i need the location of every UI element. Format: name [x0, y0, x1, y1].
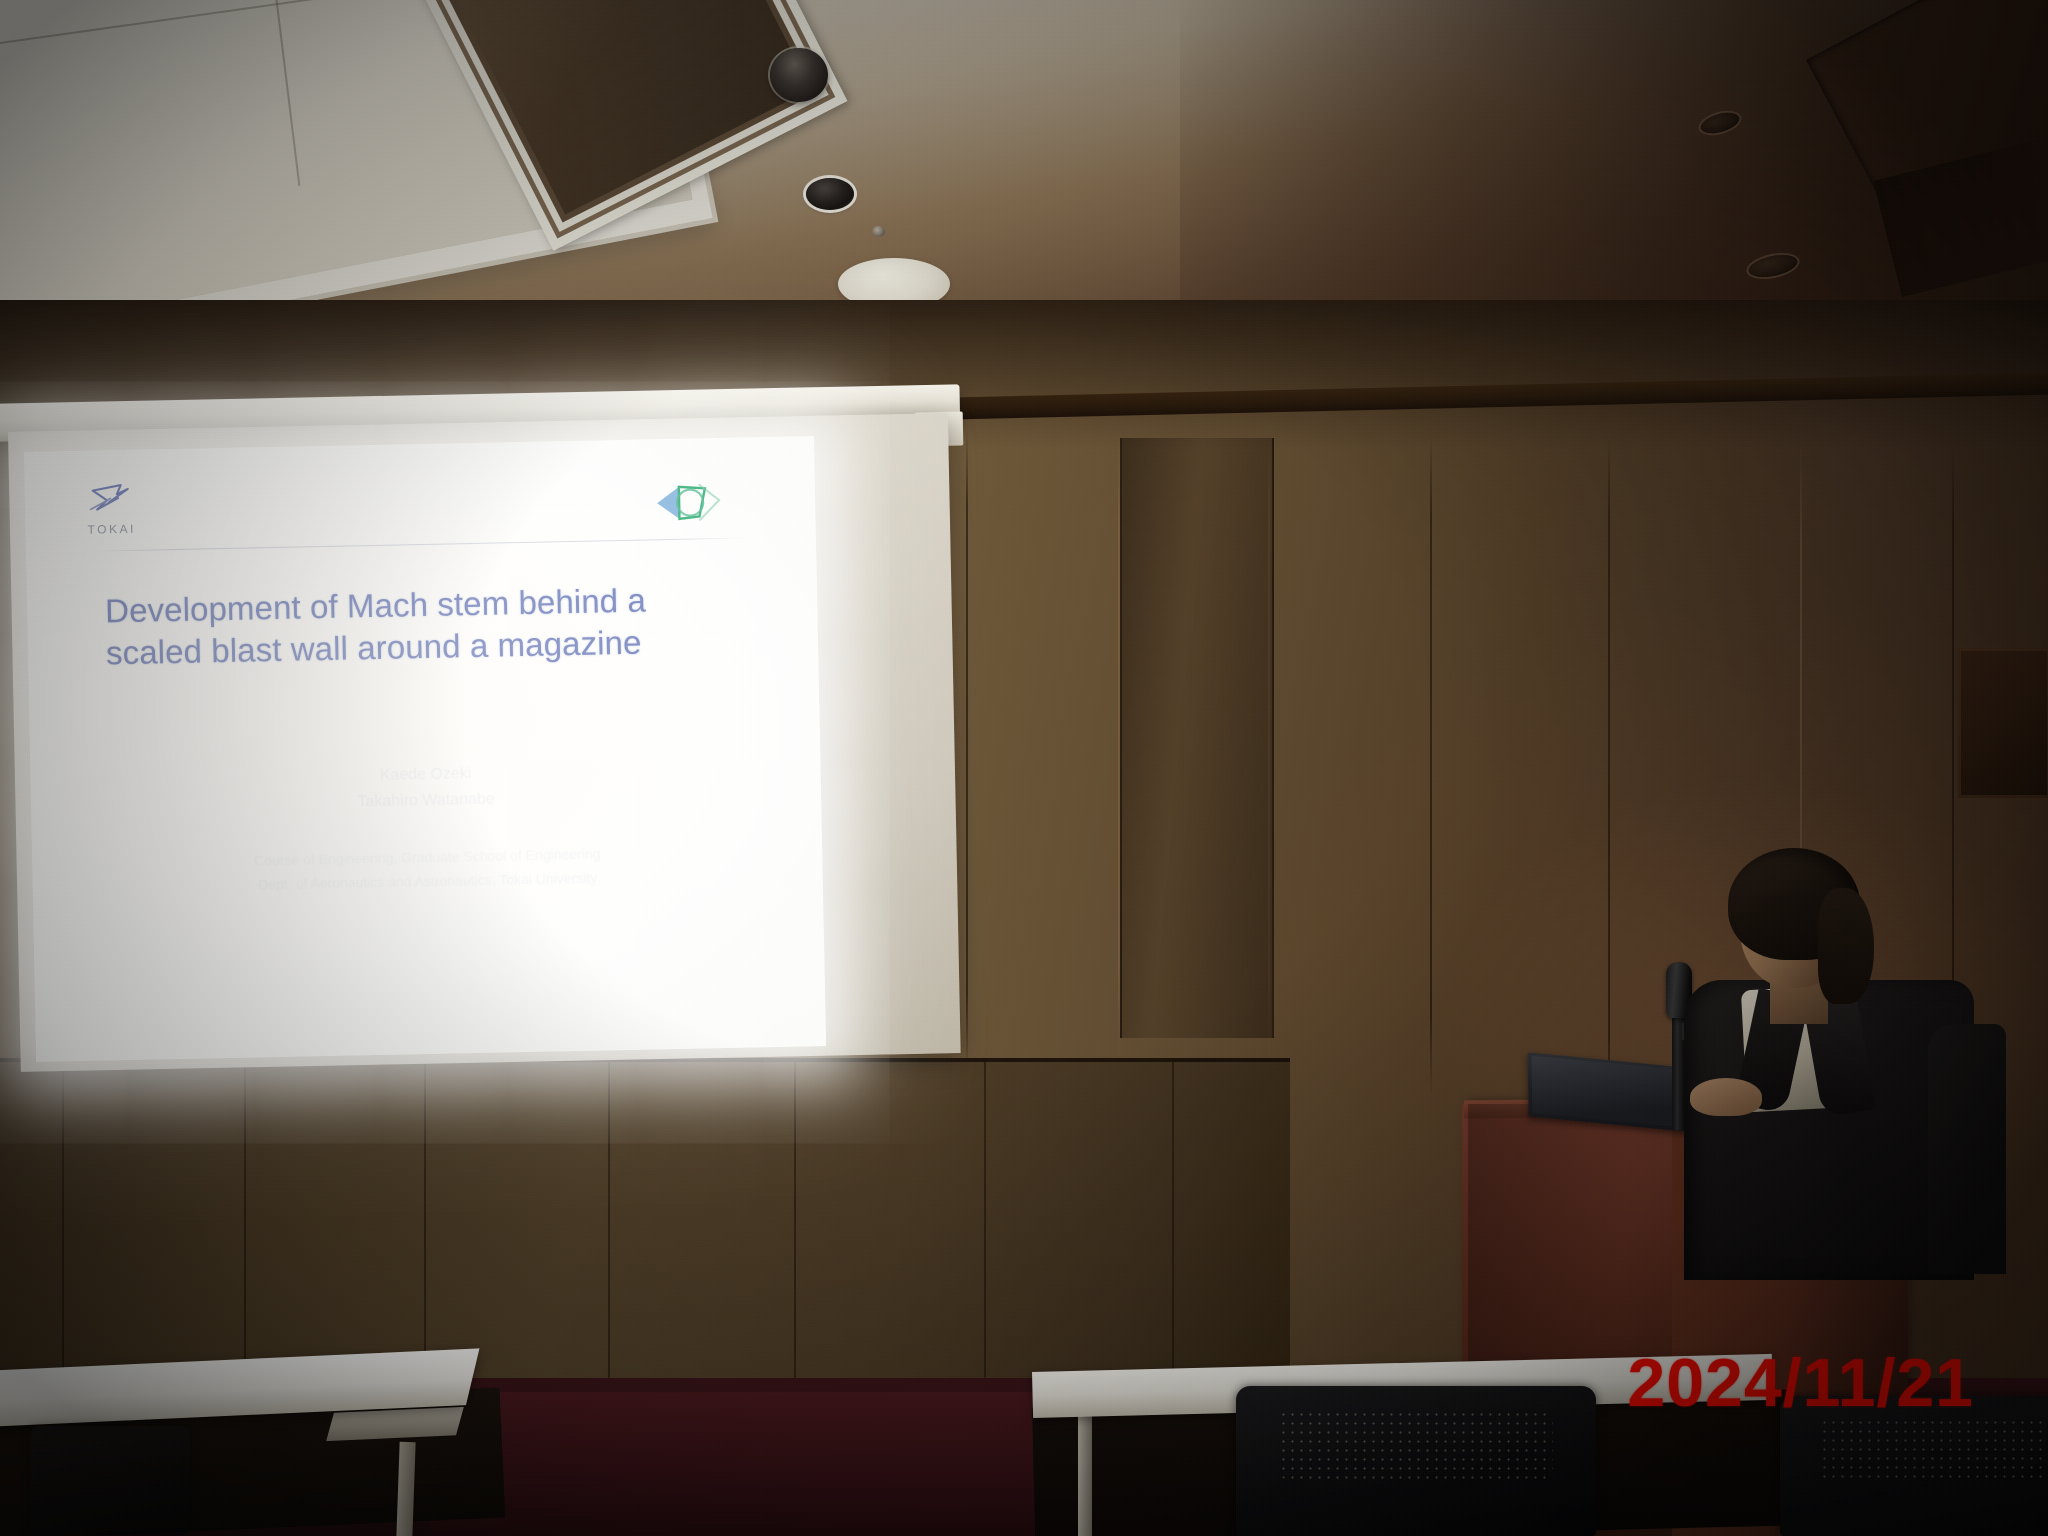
wall-panel-seam	[966, 430, 968, 1070]
dado-seam	[794, 1062, 796, 1386]
projection-screen: TOKAI Development of Mach stem behind a …	[24, 436, 826, 1062]
wall-panel-seam	[1430, 436, 1432, 1096]
chair-mesh-back	[1279, 1410, 1553, 1479]
audience-chair	[30, 1426, 190, 1536]
chair-mesh-back	[1820, 1418, 2048, 1482]
tokai-logo-mark	[87, 482, 134, 517]
slide-header-divider	[90, 538, 746, 552]
sprinkler-head-icon	[872, 226, 885, 237]
dado-seam	[62, 1062, 64, 1382]
dado-seam	[424, 1062, 426, 1382]
conference-emblem-svg	[649, 480, 726, 526]
presenter-hair-side	[1818, 888, 1874, 1004]
slide-authors: Kaede Ozeki Takahiro Watanabe	[30, 754, 821, 823]
wall-artwork	[1958, 648, 2048, 798]
wall-recess-panel	[1120, 438, 1274, 1038]
front-right-table-leg	[1078, 1412, 1092, 1536]
dado-seam	[244, 1062, 246, 1382]
presenter-arm	[1928, 1024, 2006, 1274]
slide-affiliation: Course of Engineering, Graduate School o…	[32, 838, 823, 901]
tokai-wordmark: TOKAI	[87, 521, 149, 536]
presentation-slide: TOKAI Development of Mach stem behind a …	[24, 436, 826, 1062]
audience-chair	[1236, 1386, 1596, 1536]
floor-carpet-foreground	[430, 1392, 1050, 1536]
tokai-university-logo: TOKAI	[87, 482, 150, 541]
dado-seam	[608, 1062, 610, 1384]
photo-canvas: TOKAI Development of Mach stem behind a …	[0, 0, 2048, 1536]
dado-seam	[984, 1062, 986, 1388]
slide-title: Development of Mach stem behind a scaled…	[105, 578, 707, 674]
camera-date-stamp: 2024/11/21	[1627, 1344, 1974, 1422]
dado-seam	[1172, 1062, 1174, 1390]
front-left-table-leg	[396, 1442, 415, 1536]
wall-panel-seam	[1608, 438, 1610, 1118]
slide-header: TOKAI	[59, 463, 782, 543]
presenter-hand	[1690, 1078, 1762, 1116]
conference-emblem-icon	[649, 480, 726, 526]
wall-dado-panelling	[0, 1058, 1290, 1392]
downlight-icon	[806, 178, 854, 210]
ceiling-speaker-icon	[770, 48, 828, 102]
